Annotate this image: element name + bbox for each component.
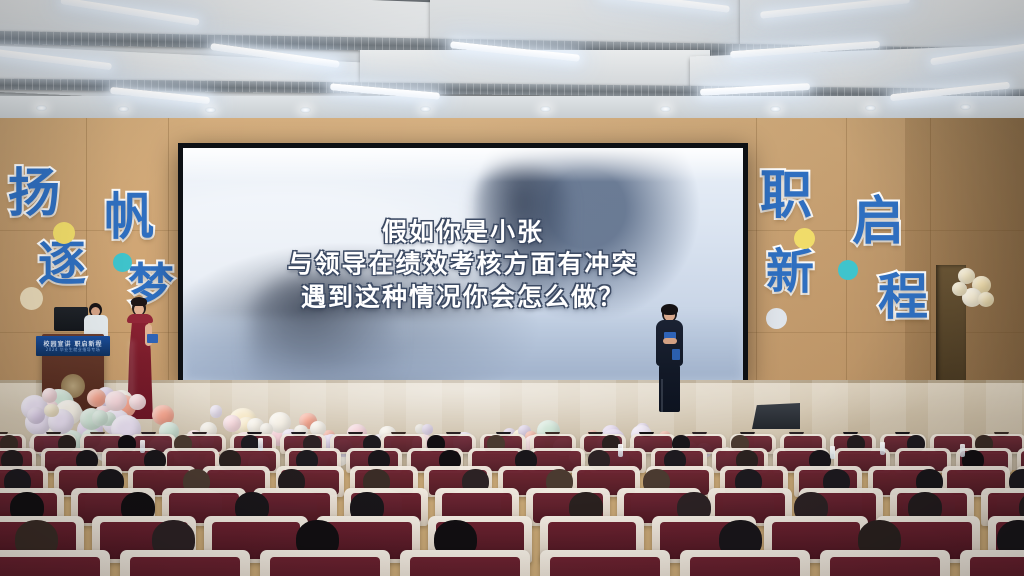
- water-bottle: [880, 442, 885, 455]
- av-laptop: [54, 307, 88, 331]
- balloon: [210, 405, 223, 417]
- downlight: [540, 106, 551, 112]
- balloon: [952, 282, 967, 296]
- auditorium-seat: [540, 550, 670, 576]
- balloon: [92, 410, 108, 425]
- presenter-speaker: [651, 305, 687, 415]
- wall-char: 启: [852, 196, 904, 248]
- podium-banner-subtext: 2024 毕业生就业指导专场: [36, 347, 110, 353]
- downlight: [865, 105, 876, 111]
- auditorium-seat: [400, 550, 530, 576]
- auditorium-seat: [820, 550, 950, 576]
- auditorium-photo: 扬逐帆梦 职新启程 假如你是小张 与领导在绩效考核方面有冲突 遇到这种情况你会怎…: [0, 0, 1024, 576]
- presenter-badge: [672, 349, 680, 360]
- slide-line-1: 假如你是小张: [183, 216, 743, 249]
- flower-decoration: [20, 287, 43, 310]
- balloon: [44, 404, 59, 418]
- flower-decoration: [53, 222, 75, 244]
- audience-seating: [0, 432, 1024, 576]
- downlight: [36, 105, 47, 111]
- downlight: [660, 106, 671, 112]
- auditorium-seat: [260, 550, 390, 576]
- screen-glare: [183, 148, 743, 182]
- flower-decoration: [766, 308, 787, 329]
- balloon: [978, 292, 994, 307]
- balloon: [129, 394, 146, 410]
- slide-line-2: 与领导在绩效考核方面有冲突: [183, 248, 743, 281]
- balloon: [42, 388, 57, 403]
- downlight: [960, 104, 971, 110]
- water-bottle: [258, 438, 263, 451]
- podium-banner: 校园宣讲 职启新程 2024 毕业生就业指导专场: [36, 336, 110, 356]
- auditorium-seat: [680, 550, 810, 576]
- flower-decoration: [113, 253, 132, 272]
- balloon: [27, 407, 45, 424]
- wall-char: 程: [878, 272, 928, 322]
- wall-char: 逐: [38, 240, 86, 288]
- auditorium-seat: [0, 550, 110, 576]
- water-bottle: [140, 440, 145, 453]
- downlight: [300, 107, 311, 113]
- water-bottle: [618, 444, 623, 457]
- presenter-hair: [661, 304, 678, 315]
- balloon: [105, 391, 126, 411]
- wall-char: 新: [766, 248, 814, 296]
- host-cue-card: [147, 334, 158, 343]
- host-hair: [131, 297, 147, 306]
- water-bottle: [830, 446, 835, 459]
- downlight: [118, 106, 129, 112]
- auditorium-seat: [960, 550, 1024, 576]
- auditorium-seat: [120, 550, 250, 576]
- wall-char: 职: [760, 170, 812, 222]
- wall-char: 帆: [104, 192, 154, 242]
- downlight: [770, 106, 781, 112]
- water-bottle: [960, 444, 965, 457]
- flower-decoration: [838, 260, 858, 280]
- downlight: [420, 106, 431, 112]
- flower-decoration: [794, 228, 815, 249]
- stage-monitor-speaker: [752, 403, 800, 429]
- ceiling: [0, 0, 1024, 124]
- wall-char: 扬: [8, 168, 60, 220]
- downlight: [205, 107, 216, 113]
- balloon: [87, 389, 106, 407]
- slide-text-block: 假如你是小张 与领导在绩效考核方面有冲突 遇到这种情况你会怎么做？: [183, 216, 743, 314]
